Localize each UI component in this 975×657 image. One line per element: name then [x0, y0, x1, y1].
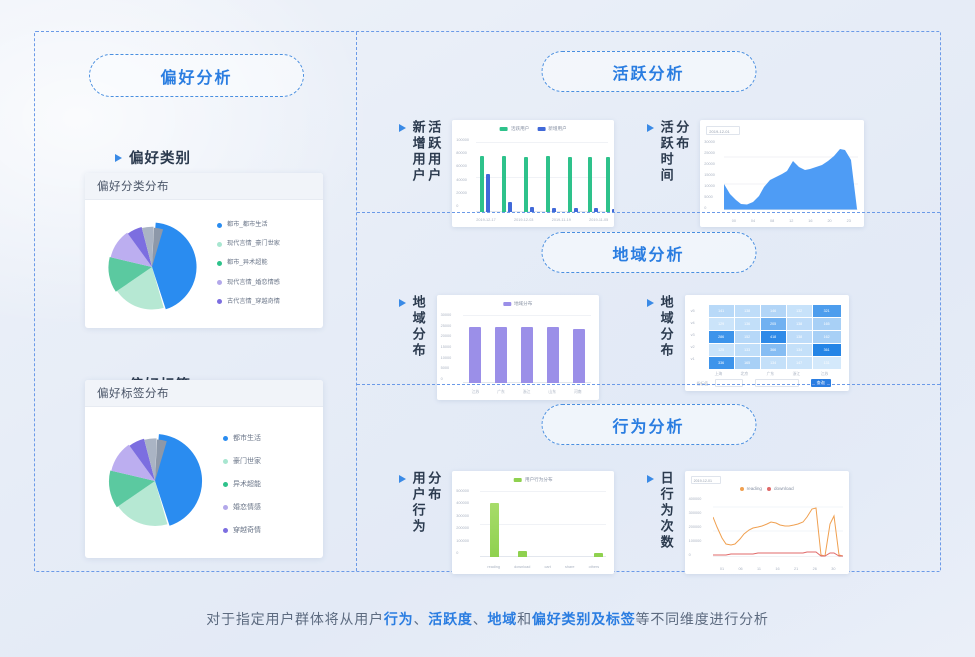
heatmap-x-label: 浙江: [793, 372, 801, 377]
x-tick: 11: [757, 567, 761, 571]
heatmap-x-label: 北京: [741, 372, 749, 377]
vertical-label-col: 活跃时间: [659, 120, 673, 184]
bar: [502, 156, 506, 212]
triangle-bullet-icon: [647, 475, 654, 483]
heatmap-cell[interactable]: 141: [709, 305, 734, 317]
date-filter-value: 2019-12-01: [692, 477, 720, 485]
bar: [486, 174, 490, 212]
triangle-bullet-icon: [399, 299, 406, 307]
heatmap-cell[interactable]: 147: [787, 357, 812, 369]
y-tick: 80000: [456, 151, 469, 155]
legend-item: reading: [740, 486, 762, 491]
legend-item: 现代言情_婚恋情感: [217, 280, 280, 286]
legend-label: download: [774, 486, 794, 491]
y-tick: 15000: [441, 345, 452, 349]
legend-item: 地域分布: [503, 301, 532, 307]
legend-dot-icon: [217, 242, 222, 247]
bar: [469, 327, 481, 383]
bar: [480, 156, 484, 212]
y-axis: 30000 25000 20000 15000 10000 5000 0: [441, 313, 452, 381]
x-tick: 21: [794, 567, 798, 571]
caption-highlight: 偏好类别及标签: [532, 611, 636, 627]
legend-item: 异术超能: [223, 481, 261, 488]
label-active-time-distribution: 分布 活跃时间: [647, 120, 688, 184]
y-tick: 20000: [704, 162, 715, 166]
vertical-label-col: 分布: [675, 120, 689, 184]
preference-analysis-title: 偏好分析: [89, 54, 304, 97]
y-tick: 30000: [704, 140, 715, 144]
heatmap-cell[interactable]: 146: [761, 305, 786, 317]
mini-legend: 用户行为分布: [514, 477, 553, 483]
bar: [594, 553, 603, 557]
legend-item: 古代言情_穿越奇情: [217, 299, 280, 305]
y-tick: 300000: [689, 511, 702, 515]
bar: [518, 551, 527, 557]
heatmap-cell[interactable]: 134: [787, 344, 812, 356]
heatmap-cell[interactable]: 205: [761, 318, 786, 330]
legend-label: 用户行为分布: [525, 477, 553, 483]
y-axis: 500000 400000 300000 200000 100000 0: [456, 489, 469, 555]
chart-active-time-area: 2019-12-01 30000 25000 20000 15000 10000…: [700, 120, 864, 227]
legend-dot-icon: [217, 299, 222, 304]
heatmap-cell[interactable]: 165: [813, 318, 841, 330]
row-user-behavior: 分布 用户行为 用户行为分布 500000 400000 300000: [399, 471, 614, 574]
diagram-frame: 偏好分析 偏好类别 偏好分类分布: [34, 31, 941, 572]
y-tick: 25000: [704, 151, 715, 155]
heatmap-cell[interactable]: 131: [813, 357, 841, 369]
y-tick: 5000: [441, 366, 452, 370]
legend-label: reading: [747, 486, 762, 491]
legend-item: 活跃用户: [500, 126, 529, 132]
x-tick: reading: [487, 565, 500, 569]
caption-highlight: 行为: [384, 611, 414, 627]
y-tick: 300000: [456, 514, 469, 518]
y-tick: 0: [441, 377, 452, 381]
bar: [606, 157, 610, 212]
bar: [547, 327, 559, 383]
heatmap-y-label: v1: [691, 357, 695, 361]
panel-active-analysis: 活跃分析 活跃用户 新增用户 活跃用户: [357, 32, 940, 212]
heatmap-cell[interactable]: 418: [761, 331, 786, 343]
x-tick: cart: [545, 565, 551, 569]
preference-tag-chart-body: 都市生活 豪门世家 异术超能 婚恋情感: [85, 407, 323, 558]
triangle-bullet-icon: [115, 154, 122, 162]
row-active-time: 分布 活跃时间 2019-12-01 30000 25000 20000 150…: [647, 120, 864, 227]
legend-label: 都市_异术超能: [227, 260, 268, 266]
x-axis: reading download cart share others: [480, 565, 606, 569]
heatmap-cell[interactable]: 136: [735, 318, 760, 330]
x-tick: 30: [831, 567, 835, 571]
vertical-text: 日行为次数: [659, 471, 673, 551]
chart-daily-behavior-line: 2019-12-01 reading download 400000: [685, 471, 849, 574]
vertical-text: 活跃用户 新增用户: [411, 120, 440, 184]
legend-label: 穿越奇情: [233, 527, 261, 534]
y-tick: 5000: [704, 195, 715, 199]
label-region-distribution-heatmap: 地域分布: [647, 295, 673, 359]
caption-highlight: 活跃度: [428, 611, 472, 627]
legend-swatch-icon: [767, 487, 771, 491]
preference-category-pie-chart: [99, 214, 205, 320]
legend-label: 古代言情_穿越奇情: [227, 299, 280, 305]
x-tick: others: [589, 565, 600, 569]
y-tick: 20000: [441, 334, 452, 338]
y-tick: 10000: [441, 356, 452, 360]
heatmap-cell[interactable]: 162: [813, 331, 841, 343]
y-tick: 200000: [456, 526, 469, 530]
legend-dot-icon: [217, 261, 222, 266]
bar: [568, 157, 572, 212]
card-title-preference-tag: 偏好标签分布: [85, 380, 323, 407]
vertical-label-col: 分布: [427, 471, 441, 535]
legend-swatch-icon: [514, 478, 522, 482]
heatmap-cell[interactable]: 321: [813, 305, 841, 317]
y-tick: 500000: [456, 489, 469, 493]
bar: [521, 327, 533, 383]
y-tick: 60000: [456, 164, 469, 168]
legend-label: 都市_都市生活: [227, 222, 268, 228]
legend-item: 用户行为分布: [514, 477, 553, 483]
legend-label: 都市生活: [233, 435, 261, 442]
legend-dot-icon: [217, 223, 222, 228]
legend-item: 豪门世家: [223, 458, 261, 465]
row-new-active-users: 活跃用户 新增用户 活跃用户 新增用户: [399, 120, 614, 227]
y-tick: 0: [704, 206, 715, 210]
heatmap-y-label: v3: [691, 333, 695, 337]
panel-region-analysis: 地域分析 地域分布 地域分布 30000: [357, 212, 940, 384]
y-tick: 0: [689, 553, 702, 557]
triangle-bullet-icon: [399, 124, 406, 132]
heatmap-cell[interactable]: 361: [813, 344, 841, 356]
heatmap-cell[interactable]: 138: [787, 318, 812, 330]
vertical-label-col: 地域分布: [659, 295, 673, 359]
bar: [495, 327, 507, 383]
heatmap-cell[interactable]: 165: [735, 357, 760, 369]
heatmap-cell[interactable]: 134: [761, 357, 786, 369]
legend-item: 穿越奇情: [223, 527, 261, 534]
legend-dot-icon: [217, 280, 222, 285]
legend-item: 新增用户: [537, 126, 566, 132]
heatmap-cell[interactable]: 132: [787, 305, 812, 317]
gridline: [480, 491, 606, 492]
behavior-analysis-title: 行为分析: [541, 404, 756, 445]
row-daily-behavior: 日行为次数 2019-12-01 reading down: [647, 471, 849, 574]
bar: [588, 157, 592, 212]
vertical-label-col: 日行为次数: [659, 471, 673, 551]
heatmap-y-label: v4: [691, 321, 695, 325]
legend-label: 现代言情_豪门世家: [227, 241, 280, 247]
bar: [508, 202, 512, 212]
y-tick: 25000: [441, 324, 452, 328]
caption-text: 等不同维度进行分析: [636, 611, 769, 627]
section-heading-label: 偏好类别: [129, 147, 191, 168]
heatmap-x-label: 上海: [715, 372, 723, 377]
x-tick: 01: [720, 567, 724, 571]
legend-label: 婚恋情感: [233, 504, 261, 511]
preference-category-chart-body: 都市_都市生活 现代言情_豪门世家 都市_异术超能 现代言情_婚恋情感: [85, 200, 323, 328]
chart-user-behavior-bar: 用户行为分布 500000 400000 300000 200000 10000…: [452, 471, 614, 574]
heatmap-cell[interactable]: 129: [709, 318, 734, 330]
region-analysis-title: 地域分析: [541, 232, 756, 273]
legend-dot-icon: [223, 528, 228, 533]
caption-text: 、: [473, 611, 488, 627]
mini-legend: 活跃用户 新增用户: [500, 126, 567, 132]
plot-area: [463, 315, 591, 383]
mini-legend: reading download: [740, 486, 794, 491]
preference-tag-legend: 都市生活 豪门世家 异术超能 婚恋情感: [223, 435, 261, 534]
y-tick: 400000: [456, 501, 469, 505]
legend-dot-icon: [223, 436, 228, 441]
area-chart-path: [724, 140, 858, 210]
heatmap-y-label: v2: [691, 345, 695, 349]
y-tick: 10000: [704, 184, 715, 188]
triangle-bullet-icon: [399, 475, 406, 483]
label-user-behavior-distribution: 分布 用户行为: [399, 471, 440, 535]
legend-label: 新增用户: [548, 126, 566, 132]
x-axis: 01 06 11 16 21 26 30: [713, 567, 843, 571]
y-tick: 0: [456, 551, 469, 555]
legend-swatch-icon: [503, 302, 511, 306]
vertical-text: 地域分布: [411, 295, 425, 359]
legend-item: 都市_都市生活: [217, 222, 280, 228]
analysis-panels-column: 活跃分析 活跃用户 新增用户 活跃用户: [357, 32, 940, 571]
y-tick: 100000: [456, 539, 469, 543]
legend-label: 活跃用户: [511, 126, 529, 132]
legend-item: 都市_异术超能: [217, 260, 280, 266]
preference-category-legend: 都市_都市生活 现代言情_豪门世家 都市_异术超能 现代言情_婚恋情感: [217, 222, 280, 305]
y-tick: 15000: [704, 173, 715, 177]
y-axis: 400000 300000 200000 100000 0: [689, 497, 702, 557]
heatmap-cell[interactable]: 286: [709, 331, 734, 343]
y-tick: 30000: [441, 313, 452, 317]
caption-highlight: 地域: [488, 611, 518, 627]
plot-area: [480, 491, 606, 557]
heatmap-x-label: 江苏: [821, 372, 829, 377]
legend-label: 现代言情_婚恋情感: [227, 280, 280, 286]
vertical-text: 分布 用户行为: [411, 471, 440, 535]
heatmap-x-label: 广东: [767, 372, 775, 377]
mini-legend: 地域分布: [503, 301, 532, 307]
x-tick: 16: [775, 567, 779, 571]
gridline: [476, 142, 608, 143]
preference-tag-pie-chart: [99, 425, 211, 537]
bar: [524, 157, 528, 212]
legend-label: 地域分布: [514, 301, 532, 307]
y-tick: 100000: [456, 138, 469, 142]
heatmap-cell[interactable]: 366: [761, 344, 786, 356]
heatmap-cell[interactable]: 125: [709, 344, 734, 356]
date-filter-input[interactable]: 2019-12-01: [706, 126, 740, 135]
caption-text: 和: [517, 611, 532, 627]
x-tick: download: [514, 565, 530, 569]
date-filter-value: 2019-12-01: [707, 127, 739, 136]
y-tick: 20000: [456, 191, 469, 195]
legend-dot-icon: [223, 459, 228, 464]
legend-label: 异术超能: [233, 481, 261, 488]
x-tick: 26: [813, 567, 817, 571]
preference-tag-card: 偏好标签分布 都市生活: [85, 380, 323, 558]
heatmap-cell[interactable]: 133: [735, 344, 760, 356]
legend-swatch-icon: [500, 127, 508, 131]
preference-category-card: 偏好分类分布 都市_都市生活: [85, 173, 323, 328]
heatmap-cell[interactable]: 138: [735, 305, 760, 317]
heatmap-y-label: v5: [691, 309, 695, 313]
vertical-label-col: 地域分布: [411, 295, 425, 359]
y-tick: 0: [456, 204, 469, 208]
active-analysis-title: 活跃分析: [541, 51, 756, 92]
chart-region-heatmap: v5 v4 v3 v2 v1 141 138 146 132 321 129 1…: [685, 295, 849, 391]
caption-text: 、: [413, 611, 428, 627]
triangle-bullet-icon: [647, 299, 654, 307]
label-daily-behavior-count: 日行为次数: [647, 471, 673, 551]
heatmap-cell[interactable]: 152: [735, 331, 760, 343]
section-heading-preference-category: 偏好类别: [115, 147, 191, 168]
panel-behavior-analysis: 行为分析 分布 用户行为 用户行为分布: [357, 384, 940, 571]
heatmap-cell[interactable]: 336: [709, 357, 734, 369]
gridline: [463, 315, 591, 316]
axis-line: [480, 556, 606, 557]
row-region-heatmap: 地域分布 v5 v4 v3 v2 v1 141 138 146 132 321: [647, 295, 849, 391]
y-axis: 100000 80000 60000 40000 20000 0: [456, 138, 469, 208]
legend-item: download: [767, 486, 794, 491]
plot-area: [476, 142, 608, 212]
bar: [490, 503, 499, 557]
footer-caption: 对于指定用户群体将从用户行为、活跃度、地域和偏好类别及标签等不同维度进行分析: [0, 609, 975, 629]
caption-text: 对于指定用户群体将从用户: [206, 611, 384, 627]
line-chart-paths: [713, 497, 843, 557]
x-tick: share: [565, 565, 575, 569]
chart-new-active-users-bar: 活跃用户 新增用户 100000 80000 60000 40000 20000: [452, 120, 614, 227]
vertical-label-col: 新增用户: [411, 120, 425, 184]
triangle-bullet-icon: [647, 124, 654, 132]
y-axis: 30000 25000 20000 15000 10000 5000 0: [704, 140, 715, 210]
y-tick: 400000: [689, 497, 702, 501]
date-filter-input[interactable]: 2019-12-01: [691, 476, 721, 484]
y-tick: 200000: [689, 525, 702, 529]
preference-analysis-column: 偏好分析 偏好类别 偏好分类分布: [35, 32, 357, 571]
legend-dot-icon: [223, 505, 228, 510]
vertical-text: 分布 活跃时间: [659, 120, 688, 184]
gridline: [480, 524, 606, 525]
legend-item: 婚恋情感: [223, 504, 261, 511]
vertical-text: 地域分布: [659, 295, 673, 359]
legend-item: 现代言情_豪门世家: [217, 241, 280, 247]
vertical-label-col: 活跃用户: [427, 120, 441, 184]
legend-dot-icon: [223, 482, 228, 487]
legend-swatch-icon: [740, 487, 744, 491]
legend-item: 都市生活: [223, 435, 261, 442]
x-tick: 06: [738, 567, 742, 571]
bar: [546, 156, 550, 212]
legend-label: 豪门世家: [233, 458, 261, 465]
label-new-active-users: 活跃用户 新增用户: [399, 120, 440, 184]
bar: [573, 329, 585, 383]
label-region-distribution: 地域分布: [399, 295, 425, 359]
legend-swatch-icon: [537, 127, 545, 131]
vertical-label-col: 用户行为: [411, 471, 425, 535]
y-tick: 40000: [456, 178, 469, 182]
card-title-preference-category: 偏好分类分布: [85, 173, 323, 200]
y-tick: 100000: [689, 539, 702, 543]
heatmap-cell[interactable]: 138: [787, 331, 812, 343]
